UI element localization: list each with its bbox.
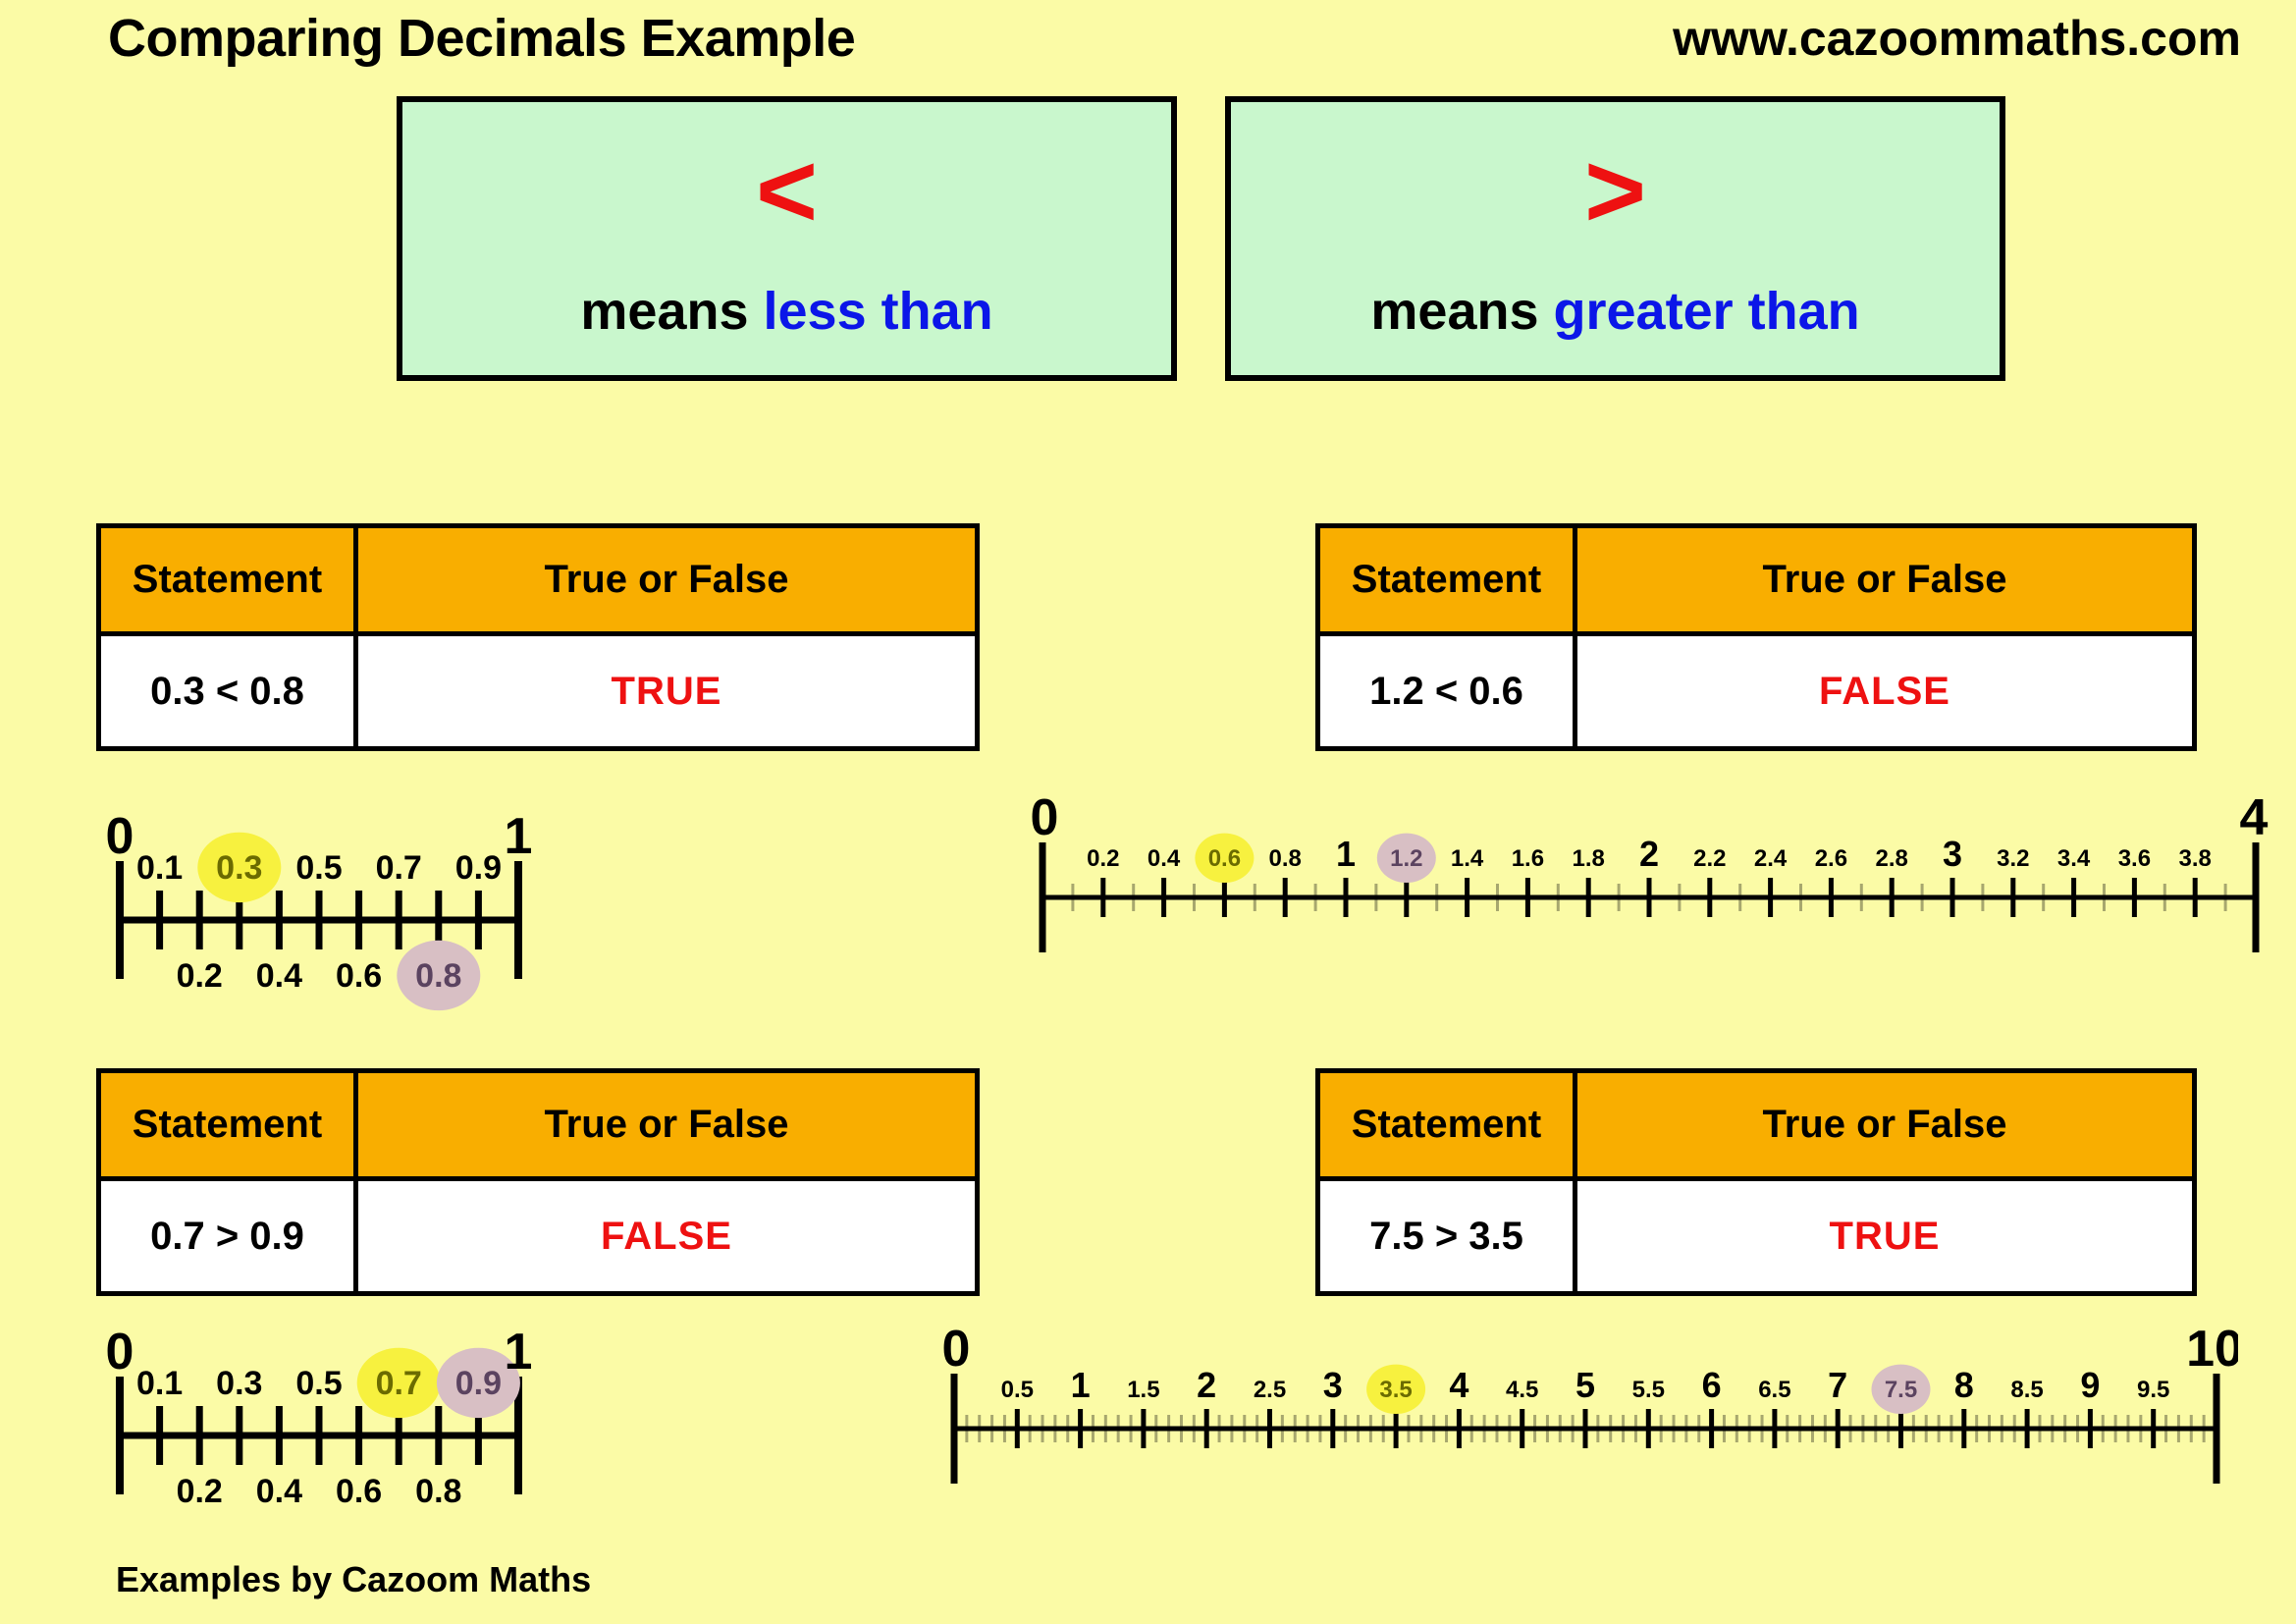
tick-label: 0.9 [455,849,502,887]
tick-label: 0.2 [1087,845,1119,872]
column-header-statement: Statement [101,1073,358,1176]
tick-label: 4.5 [1506,1377,1538,1403]
tick-label: 0.8 [1269,845,1302,872]
endpoint-label-min: 0 [106,808,134,865]
tick-label: 2.6 [1815,845,1847,872]
statement-table: Statement True or False 0.7 > 0.9 FALSE [96,1068,980,1296]
tick-label: 0.6 [336,1473,382,1510]
tick-label: 0.8 [415,957,461,995]
less-than-icon: < [402,137,1171,244]
endpoint-label-max: 4 [2240,789,2269,846]
symbol-box-greater-than: > means greater than [1225,96,2005,381]
table-row: 1.2 < 0.6 FALSE [1320,636,2192,746]
number-line-svg: 0.10.30.50.70.90.20.40.60.801 [98,1301,540,1537]
tick-label: 3 [1943,834,1962,874]
endpoint-label-min: 0 [942,1321,971,1378]
column-header-true-or-false: True or False [358,528,975,631]
tick-label: 0.7 [376,1365,422,1402]
tick-label: 8.5 [2010,1377,2043,1403]
symbol-box-caption: means greater than [1231,281,2000,342]
tick-label: 0.6 [1208,845,1241,872]
tick-label: 2.5 [1254,1377,1286,1403]
tick-label: 0.8 [415,1473,461,1510]
greater-than-icon: > [1231,137,2000,244]
symbol-box-caption: means less than [402,281,1171,342]
column-header-statement: Statement [1320,528,1577,631]
column-header-statement: Statement [101,528,358,631]
table-row: 0.3 < 0.8 TRUE [101,636,975,746]
cell-answer: FALSE [358,1181,975,1291]
cell-answer: TRUE [358,636,975,746]
page-title: Comparing Decimals Example [108,8,855,69]
tick-label: 0.2 [177,1473,223,1510]
tick-label: 0.5 [1001,1377,1034,1403]
tick-label: 2 [1197,1365,1216,1405]
tick-label: 3.2 [1997,845,2029,872]
tick-label: 0.4 [256,1473,302,1510]
tick-label: 0.2 [177,957,223,995]
column-header-statement: Statement [1320,1073,1577,1176]
endpoint-label-min: 0 [106,1324,134,1380]
cell-statement: 1.2 < 0.6 [1320,636,1577,746]
tick-label: 0.6 [336,957,382,995]
tick-label: 6.5 [1758,1377,1790,1403]
tick-label: 0.7 [376,849,422,887]
endpoint-label-max: 1 [505,1324,533,1380]
tick-label: 0.3 [216,849,262,887]
column-header-true-or-false: True or False [1577,1073,2192,1176]
tick-label: 5.5 [1632,1377,1665,1403]
statement-table: Statement True or False 0.3 < 0.8 TRUE [96,523,980,751]
tick-label: 0.1 [136,1365,183,1402]
caption-keyword: less than [764,282,993,341]
cell-statement: 0.3 < 0.8 [101,636,358,746]
tick-label: 1 [1071,1365,1091,1405]
footer-credit: Examples by Cazoom Maths [116,1559,591,1600]
table-header-row: Statement True or False [1320,528,2192,636]
cell-answer: TRUE [1577,1181,2192,1291]
caption-prefix: means [1370,282,1538,341]
tick-label: 0.9 [455,1365,502,1402]
table-header-row: Statement True or False [1320,1073,2192,1181]
tick-label: 5 [1575,1365,1595,1405]
worksheet-page: Comparing Decimals Example www.cazoommat… [0,0,2296,1624]
caption-prefix: means [580,282,748,341]
number-line-svg: 0.20.40.60.811.21.41.61.822.22.42.62.833… [1021,785,2277,982]
tick-label: 0.4 [1148,845,1181,872]
tick-label: 1.8 [1573,845,1605,872]
number-line-0-to-1-top: 0.10.30.50.70.90.20.40.60.801 [98,785,540,1021]
tick-label: 9.5 [2137,1377,2169,1403]
endpoint-label-max: 1 [505,808,533,865]
tick-label: 7.5 [1885,1377,1917,1403]
caption-keyword: greater than [1554,282,1860,341]
tick-label: 0.3 [216,1365,262,1402]
statement-table: Statement True or False 7.5 > 3.5 TRUE [1315,1068,2197,1296]
table-header-row: Statement True or False [101,528,975,636]
tick-label: 8 [1954,1365,1974,1405]
tick-label: 3.5 [1379,1377,1412,1403]
number-line-0-to-4: 0.20.40.60.811.21.41.61.822.22.42.62.833… [1021,785,2277,982]
tick-label: 3.6 [2118,845,2151,872]
symbol-box-less-than: < means less than [397,96,1177,381]
endpoint-label-max: 10 [2186,1321,2238,1378]
table-row: 0.7 > 0.9 FALSE [101,1181,975,1291]
tick-label: 1.5 [1127,1377,1159,1403]
tick-label: 6 [1702,1365,1722,1405]
tick-label: 0.5 [295,849,342,887]
statement-table: Statement True or False 1.2 < 0.6 FALSE [1315,523,2197,751]
tick-label: 1.6 [1512,845,1544,872]
column-header-true-or-false: True or False [1577,528,2192,631]
tick-label: 2.8 [1876,845,1908,872]
tick-label: 1 [1336,834,1356,874]
tick-label: 2.4 [1754,845,1788,872]
tick-label: 9 [2080,1365,2100,1405]
cell-answer: FALSE [1577,636,2192,746]
tick-label: 7 [1828,1365,1847,1405]
cell-statement: 7.5 > 3.5 [1320,1181,1577,1291]
site-url: www.cazoommaths.com [1673,10,2241,67]
tick-label: 3.4 [2057,845,2091,872]
tick-label: 3.8 [2179,845,2212,872]
number-line-svg: 0.10.30.50.70.90.20.40.60.801 [98,785,540,1021]
tick-label: 2 [1639,834,1659,874]
number-line-0-to-1-bottom: 0.10.30.50.70.90.20.40.60.801 [98,1301,540,1537]
cell-statement: 0.7 > 0.9 [101,1181,358,1291]
tick-label: 1.4 [1451,845,1484,872]
tick-label: 3 [1323,1365,1343,1405]
tick-label: 0.1 [136,849,183,887]
tick-label: 2.2 [1693,845,1726,872]
tick-label: 1.2 [1390,845,1422,872]
tick-label: 4 [1449,1365,1468,1405]
tick-label: 0.5 [295,1365,342,1402]
number-line-svg: 0.511.522.533.544.555.566.577.588.599.50… [933,1311,2238,1517]
column-header-true-or-false: True or False [358,1073,975,1176]
tick-label: 0.4 [256,957,302,995]
table-header-row: Statement True or False [101,1073,975,1181]
table-row: 7.5 > 3.5 TRUE [1320,1181,2192,1291]
number-line-0-to-10: 0.511.522.533.544.555.566.577.588.599.50… [933,1311,2238,1517]
endpoint-label-min: 0 [1031,789,1059,846]
